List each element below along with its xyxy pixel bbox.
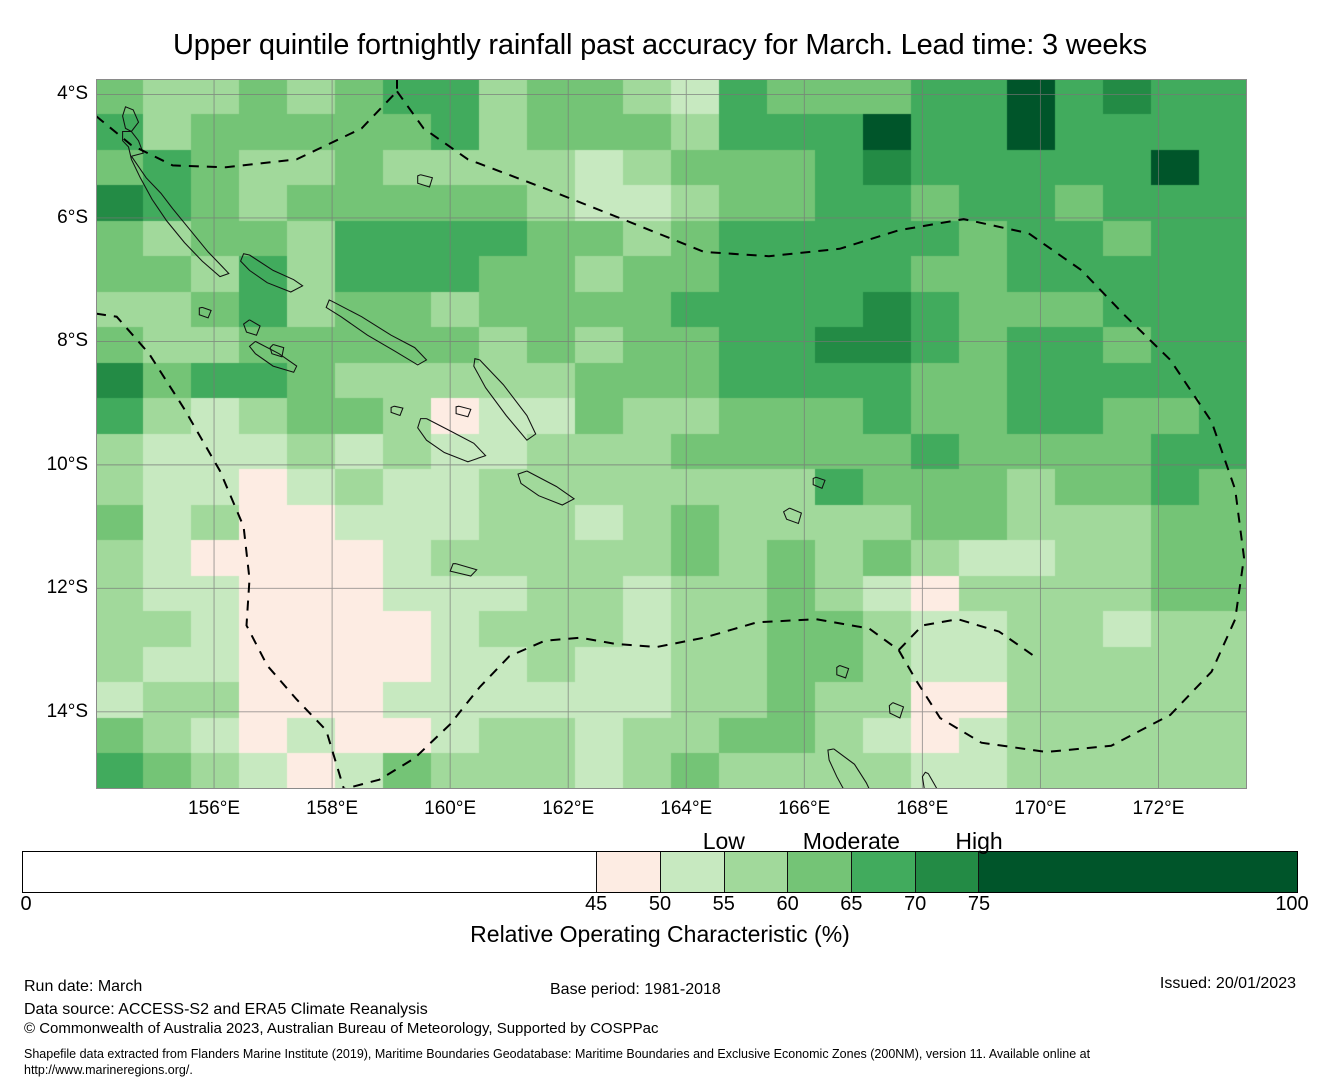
colorbar-title: Relative Operating Characteristic (%) (0, 921, 1320, 947)
colorbar-category-moderate: Moderate (803, 829, 900, 854)
lat-tick-1: 6°S (4, 208, 88, 227)
page-title: Upper quintile fortnightly rainfall past… (0, 28, 1320, 62)
colorbar[interactable] (22, 851, 1298, 893)
lon-tick-4: 164°E (660, 799, 712, 819)
colorbar-tick-75: 75 (968, 893, 990, 915)
lon-tick-1: 158°E (306, 799, 358, 819)
lat-tick-3: 10°S (4, 455, 88, 474)
colorbar-segment-65-70 (851, 852, 915, 892)
colorbar-tick-50: 50 (649, 893, 671, 915)
lon-tick-2: 160°E (424, 799, 476, 819)
eez-boundary-layer (96, 79, 1244, 789)
coastline-layer (123, 107, 943, 789)
colorbar-segment-50-55 (660, 852, 724, 892)
colorbar-gradient (22, 851, 1298, 893)
data-source-text: Data source: ACCESS-S2 and ERA5 Climate … (24, 1000, 428, 1019)
colorbar-category-high: High (955, 829, 1002, 854)
colorbar-segment-60-65 (787, 852, 851, 892)
forecast-map-page: Upper quintile fortnightly rainfall past… (0, 0, 1320, 1080)
colorbar-tick-55: 55 (713, 893, 735, 915)
map-overlay (96, 79, 1247, 789)
lat-tick-4: 12°S (4, 578, 88, 597)
lat-tick-0: 4°S (4, 84, 88, 103)
map-gridlines (96, 79, 1247, 789)
lon-tick-7: 170°E (1014, 799, 1066, 819)
latitude-axis: 4°S6°S8°S10°S12°S14°S (0, 0, 88, 1080)
colorbar-segment-0-45 (23, 852, 596, 892)
lon-tick-5: 166°E (778, 799, 830, 819)
run-date-text: Run date: March (24, 977, 142, 996)
base-period-text: Base period: 1981-2018 (550, 980, 721, 999)
colorbar-tick-100: 100 (1275, 893, 1308, 915)
colorbar-tick-60: 60 (776, 893, 798, 915)
lat-tick-2: 8°S (4, 331, 88, 350)
lon-tick-0: 156°E (188, 799, 240, 819)
colorbar-tick-70: 70 (904, 893, 926, 915)
lon-tick-6: 168°E (896, 799, 948, 819)
colorbar-segment-45-50 (596, 852, 660, 892)
colorbar-tick-45: 45 (585, 893, 607, 915)
colorbar-segment-55-60 (724, 852, 788, 892)
lon-tick-8: 172°E (1132, 799, 1184, 819)
copyright-text: © Commonwealth of Australia 2023, Austra… (24, 1019, 658, 1038)
colorbar-tick-0: 0 (20, 893, 31, 915)
map-plot-area (96, 79, 1247, 789)
shapefile-credit-line2[interactable]: http://www.marineregions.org/. (24, 1062, 193, 1078)
lat-tick-5: 14°S (4, 702, 88, 721)
colorbar-segment-75-100 (978, 852, 1297, 892)
colorbar-category-low: Low (703, 829, 745, 854)
shapefile-credit-line1: Shapefile data extracted from Flanders M… (24, 1046, 1090, 1062)
lon-tick-3: 162°E (542, 799, 594, 819)
colorbar-segment-70-75 (915, 852, 979, 892)
issued-date-text: Issued: 20/01/2023 (1160, 974, 1296, 993)
colorbar-tick-65: 65 (840, 893, 862, 915)
